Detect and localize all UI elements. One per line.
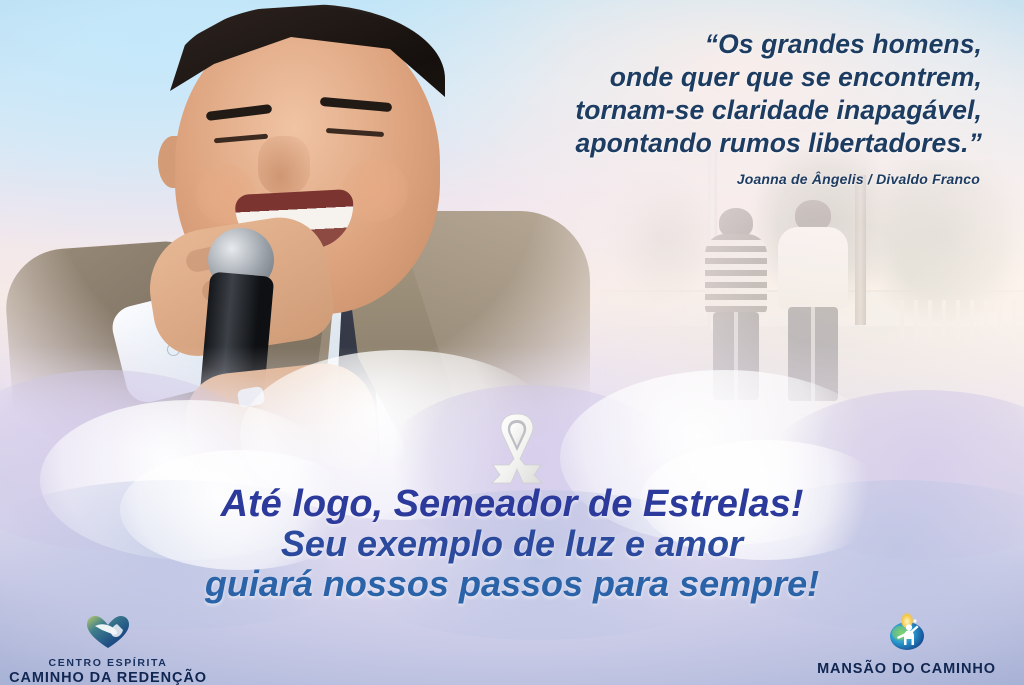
message-line-1: Até logo, Semeador de Estrelas! bbox=[0, 484, 1024, 524]
photo-person-white-shirt bbox=[778, 200, 848, 400]
memorial-poster: “Os grandes homens, onde quer que se enc… bbox=[0, 0, 1024, 685]
logo-centro-espirita-line1: CENTRO ESPÍRITA bbox=[8, 657, 208, 669]
faded-photo-two-people-walking bbox=[600, 150, 1024, 480]
photo-person-striped-shirt bbox=[704, 208, 768, 398]
white-mourning-ribbon-icon bbox=[487, 409, 547, 487]
quote-line-3: tornam-se claridade inapagável, bbox=[382, 94, 982, 127]
quote-line-2: onde quer que se encontrem, bbox=[382, 61, 982, 94]
quote-line-4: apontando rumos libertadores.” bbox=[382, 127, 982, 160]
message-line-2: Seu exemplo de luz e amor bbox=[0, 524, 1024, 564]
logo-mansao-do-caminho-line1: MANSÃO DO CAMINHO bbox=[799, 661, 1014, 677]
globe-figure-torch-icon bbox=[799, 612, 1014, 657]
logo-centro-espirita: CENTRO ESPÍRITA CAMINHO DA REDENÇÃO bbox=[8, 615, 208, 685]
logo-centro-espirita-line2: CAMINHO DA REDENÇÃO bbox=[8, 670, 208, 685]
photo-tree-trunk bbox=[855, 175, 866, 325]
heart-hands-icon bbox=[8, 615, 208, 654]
message-line-3: guiará nossos passos para sempre! bbox=[0, 564, 1024, 604]
quote-line-1: “Os grandes homens, bbox=[382, 28, 982, 61]
logo-mansao-do-caminho: MANSÃO DO CAMINHO bbox=[799, 612, 1014, 677]
quote-text: “Os grandes homens, onde quer que se enc… bbox=[382, 28, 982, 160]
quote-attribution: Joanna de Ângelis / Divaldo Franco bbox=[460, 171, 980, 187]
photo-railing bbox=[900, 300, 1020, 340]
farewell-message: Até logo, Semeador de Estrelas! Seu exem… bbox=[0, 484, 1024, 604]
portrait-nose bbox=[258, 136, 310, 194]
